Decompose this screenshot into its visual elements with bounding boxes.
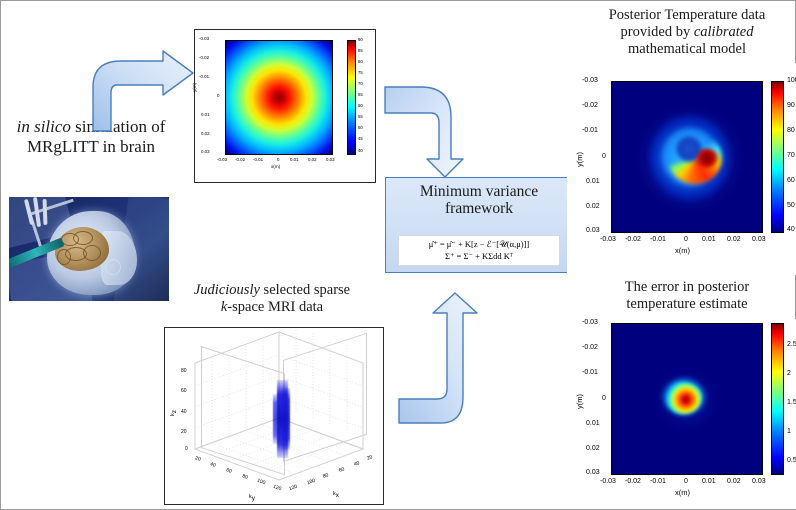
ytick: -0.01 (199, 74, 209, 79)
caption-posterior-line1: Posterior Temperature data (577, 7, 796, 24)
axes-simulated-temperature (225, 40, 333, 155)
xtick: -0.02 (625, 236, 641, 243)
xtick: 0.03 (326, 157, 335, 162)
caption-kspace: Judiciously selected sparse k-space MRI … (159, 282, 385, 316)
panel-posterior-error: -0.03 -0.02 -0.01 0 0.01 0.02 0.03 y(m) … (567, 319, 796, 509)
ytick: 0.03 (201, 149, 210, 154)
xtick: 0.01 (702, 236, 716, 243)
ytick: -0.01 (582, 127, 598, 134)
caption-kspace-rest: selected sparse (260, 282, 350, 298)
brain-illustration (9, 197, 169, 301)
caption-in-silico-em: in silico (17, 117, 71, 136)
mv-title-line2: framework (386, 200, 572, 217)
heatmap-posterior-error (612, 324, 762, 474)
xtick: -0.02 (625, 478, 641, 485)
zlabel-kspace: kz (170, 410, 178, 416)
axes-posterior-temperature (611, 81, 763, 233)
colorbar-tick: 60 (787, 177, 795, 184)
xtick: 0.01 (290, 157, 299, 162)
colorbar-tick: 90 (787, 102, 795, 109)
colorbar-tick: 50 (358, 125, 363, 130)
ytick: -0.03 (582, 319, 598, 326)
ytick: -0.02 (582, 344, 598, 351)
caption-posterior-line2-pre: provided by (621, 24, 694, 40)
colorbar-tick: 80 (358, 59, 363, 64)
xtick: -0.03 (600, 236, 616, 243)
ytick: 0.02 (586, 203, 600, 210)
kspace-sample-points (273, 394, 280, 444)
xtick: 0.03 (752, 236, 766, 243)
ytick: 0.01 (586, 420, 600, 427)
ytick: -0.03 (199, 36, 209, 41)
xtick: 0 (684, 478, 688, 485)
ytick: 0.01 (201, 112, 210, 117)
ylabel-simulated-temperature: y(m) (192, 83, 197, 92)
ztick: 80 (181, 368, 187, 374)
colorbar-tick: 40 (358, 148, 363, 153)
figure-canvas: in silico simulation of MRgLITT in brain (0, 0, 796, 510)
ylabel-posterior-error: y(m) (575, 394, 584, 409)
mv-equation-1: μ̂⁺ = μ̂⁻ + K[z − ℰ⁻[𝒰(α,μ)]] (402, 238, 556, 251)
xtick: 0.02 (727, 236, 741, 243)
colorbar-tick: 2 (787, 370, 791, 377)
ztick: 40 (181, 409, 187, 415)
colorbar-simulated-temperature (347, 40, 356, 155)
arrow-brain-to-simulation (85, 49, 197, 133)
caption-in-silico-line2: MRgLITT in brain (1, 137, 181, 157)
xtick: -0.02 (235, 157, 245, 162)
caption-error: The error in posterior temperature estim… (577, 279, 796, 313)
colorbar-tick: 55 (358, 114, 363, 119)
arrow-kspace-to-framework (399, 291, 493, 427)
colorbar-tick: 80 (787, 127, 795, 134)
caption-kspace-em: Judiciously (194, 282, 260, 298)
colorbar-tick: 90 (358, 37, 363, 42)
kspace-sample-points (282, 388, 290, 450)
caption-error-line1: The error in posterior (577, 279, 796, 296)
minimum-variance-framework-box[interactable]: Minimum variance framework μ̂⁺ = μ̂⁻ + K… (385, 177, 573, 273)
colorbar-tick: 1.5 (787, 399, 796, 406)
xtick: 0.02 (727, 478, 741, 485)
xtick: 0.01 (702, 478, 716, 485)
ytick: 0 (217, 93, 219, 98)
xlabel-posterior-temperature: x(m) (675, 246, 690, 255)
ylabel-kspace: ky (249, 494, 255, 502)
xtick: 0 (684, 236, 688, 243)
ytick: 0 (602, 395, 606, 402)
ytick: 0.02 (201, 131, 210, 136)
xtick: -0.03 (600, 478, 616, 485)
colorbar-tick: 65 (358, 92, 363, 97)
ytick: -0.01 (582, 369, 598, 376)
caption-posterior-line3: mathematical model (577, 41, 796, 58)
colorbar-tick: 40 (787, 226, 795, 233)
mv-title: Minimum variance framework (386, 178, 572, 218)
mv-title-line1: Minimum variance (386, 183, 572, 200)
colorbar-tick: 2.5 (787, 341, 796, 348)
colorbar-tick: 60 (358, 103, 363, 108)
ytick: -0.02 (582, 102, 598, 109)
axes-sparse-kspace: 80 60 40 20 0 kz 20 40 60 80 100 120 ky … (165, 328, 383, 504)
panel-sparse-kspace: 80 60 40 20 0 kz 20 40 60 80 100 120 ky … (164, 327, 384, 505)
colorbar-tick: 100 (787, 77, 796, 84)
caption-error-line2: temperature estimate (577, 296, 796, 313)
ztick: 20 (181, 429, 187, 435)
colorbar-tick: 85 (358, 48, 363, 53)
colorbar-tick: 75 (358, 70, 363, 75)
xtick: -0.01 (650, 478, 666, 485)
colorbar-tick: 1 (787, 428, 791, 435)
ytick: -0.02 (199, 55, 209, 60)
colorbar-tick: 50 (787, 202, 795, 209)
ytick: 0.03 (586, 469, 600, 476)
caption-kspace-line2: -space MRI data (227, 299, 323, 315)
colorbar-tick: 0.5 (787, 457, 796, 464)
xtick: -0.01 (650, 236, 666, 243)
xtick: 0 (277, 157, 279, 162)
panel-simulated-temperature: -0.03 -0.02 -0.01 0 0.01 0.02 0.03 y(m) … (194, 29, 376, 183)
colorbar-tick: 70 (787, 152, 795, 159)
ytick: 0.01 (586, 178, 600, 185)
xlabel-kspace: kx (333, 491, 339, 499)
ztick: 0 (185, 446, 188, 452)
colorbar-posterior-temperature (771, 81, 784, 233)
ytick: 0.03 (586, 227, 600, 234)
panel-posterior-temperature: -0.03 -0.02 -0.01 0 0.01 0.02 0.03 y(m) … (567, 63, 796, 275)
xlabel-simulated-temperature: x(m) (271, 164, 280, 169)
caption-posterior: Posterior Temperature data provided by c… (577, 7, 796, 58)
colorbar-tick: 45 (358, 136, 363, 141)
xtick: 0.02 (308, 157, 317, 162)
colorbar-posterior-error (771, 323, 784, 475)
arrow-simulation-to-framework (383, 67, 483, 179)
heatmap-posterior-temperature (612, 82, 762, 232)
axes-posterior-error (611, 323, 763, 475)
mv-equation-2: Σ⁺ = Σ⁻ + KΣdd Kᵀ (402, 250, 556, 263)
xlabel-posterior-error: x(m) (675, 488, 690, 497)
ytick: 0.02 (586, 445, 600, 452)
ylabel-posterior-temperature: y(m) (575, 152, 584, 167)
ytick: 0 (602, 153, 606, 160)
xtick: -0.03 (217, 157, 227, 162)
caption-posterior-calibrated: calibrated (694, 24, 754, 40)
ztick: 60 (181, 388, 187, 394)
xtick: -0.01 (253, 157, 263, 162)
ytick: -0.03 (582, 77, 598, 84)
xtick: 0.03 (752, 478, 766, 485)
colorbar-tick: 70 (358, 81, 363, 86)
heatmap-simulated-temperature (226, 41, 332, 154)
mv-equations: μ̂⁺ = μ̂⁻ + K[z − ℰ⁻[𝒰(α,μ)]] Σ⁺ = Σ⁻ + … (398, 235, 560, 267)
